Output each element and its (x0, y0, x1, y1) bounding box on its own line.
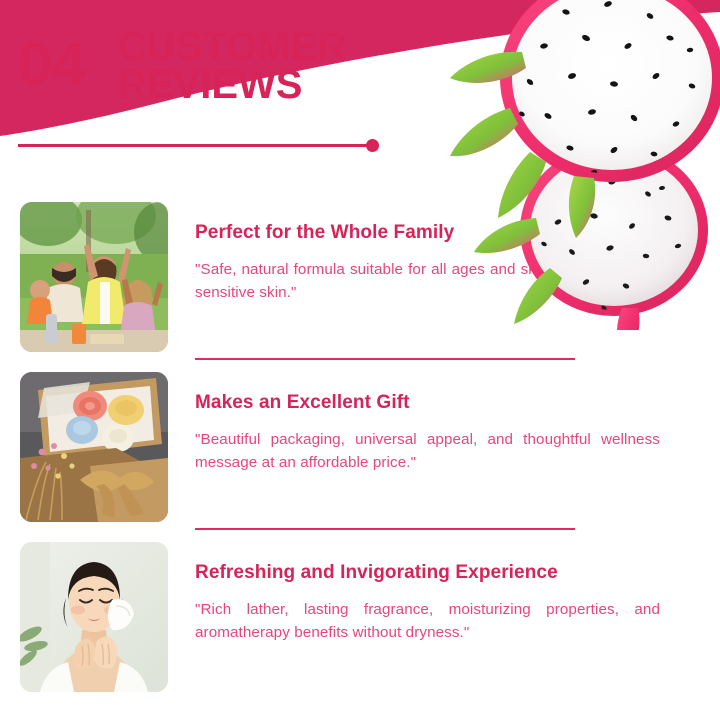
page-title-line-2: REVIEWS (118, 66, 346, 104)
review-text-block: Perfect for the Whole Family "Safe, natu… (195, 222, 660, 304)
family-picnic-photo (20, 202, 168, 352)
list-item: Perfect for the Whole Family "Safe, natu… (0, 190, 720, 360)
review-title: Refreshing and Invigorating Experience (195, 562, 660, 585)
review-list: Perfect for the Whole Family "Safe, natu… (0, 190, 720, 700)
review-title: Makes an Excellent Gift (195, 392, 660, 415)
section-number: 04 (18, 34, 85, 96)
review-quote: "Rich lather, lasting fragrance, moistur… (195, 598, 660, 644)
list-item: Makes an Excellent Gift "Beautiful packa… (0, 360, 720, 530)
header-accent-dot (366, 139, 379, 152)
review-title: Perfect for the Whole Family (195, 222, 660, 245)
review-text-block: Refreshing and Invigorating Experience "… (195, 562, 660, 644)
soap-gift-box-photo (20, 372, 168, 522)
list-item: Refreshing and Invigorating Experience "… (0, 530, 720, 700)
page-title: CUSTOMER REVIEWS (118, 28, 346, 104)
header-accent-rule (18, 144, 376, 147)
header: 04 CUSTOMER REVIEWS (0, 0, 720, 175)
review-quote: "Beautiful packaging, universal appeal, … (195, 428, 660, 474)
page-title-line-1: CUSTOMER (118, 28, 346, 66)
review-quote: "Safe, natural formula suitable for all … (195, 258, 660, 304)
review-text-block: Makes an Excellent Gift "Beautiful packa… (195, 392, 660, 474)
woman-skincare-photo (20, 542, 168, 692)
